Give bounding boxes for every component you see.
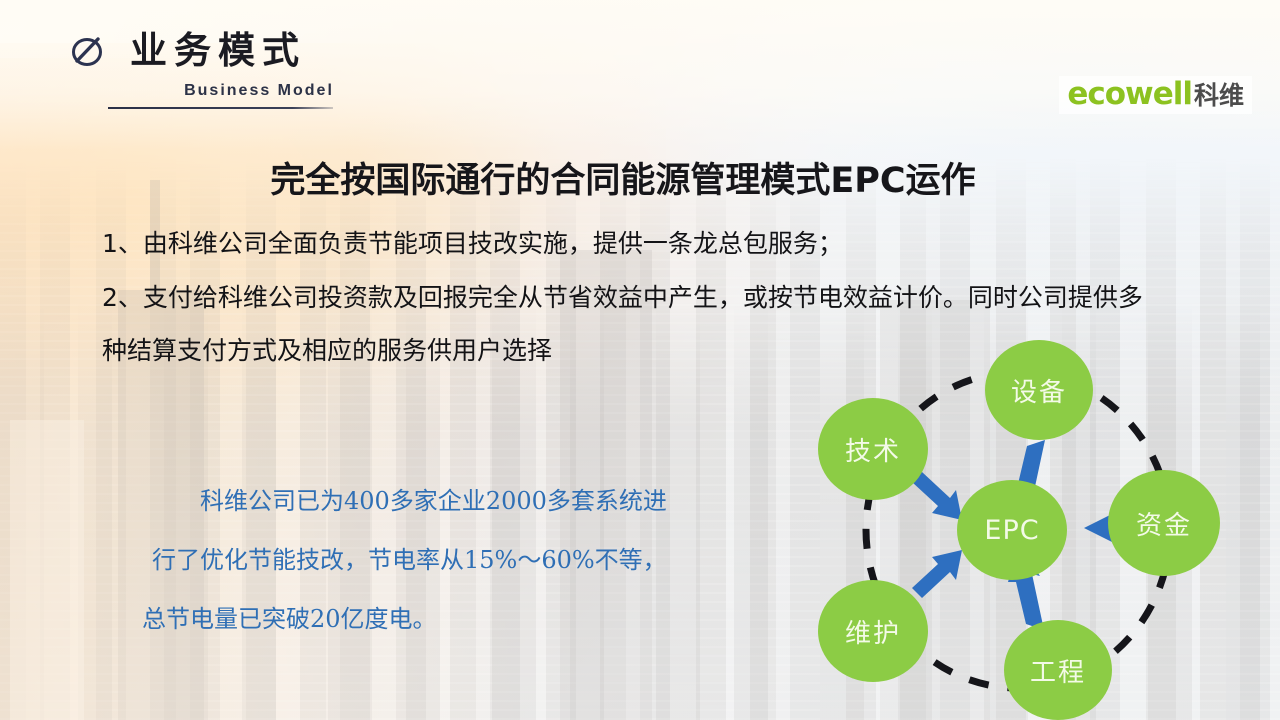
bullet-item-1: 1、由科维公司全面负责节能项目技改实施，提供一条龙总包服务； [102,228,1240,260]
highlight-line-3: 总节电量已突破20亿度电。 [142,590,720,649]
content-heading: 完全按国际通行的合同能源管理模式EPC运作 [0,152,1280,203]
header-divider [108,107,333,109]
diagram-node-epc: EPC [957,480,1067,580]
diagram-node-equipment-label: 设备 [1011,372,1067,409]
logo-wordmark: ecowell [1067,79,1192,110]
diagram-node-equipment: 设备 [985,340,1093,440]
highlight-paragraph: 科维公司已为400多家企业2000多套系统进 行了优化节能技改，节电率从15%～… [200,472,720,649]
highlight-line-1: 科维公司已为400多家企业2000多套系统进 [200,472,720,531]
diagram-node-technology-label: 技术 [845,431,901,468]
highlight-line-2: 行了优化节能技改，节电率从15%～60%不等， [152,531,720,590]
logo-chinese-name: 科维 [1194,84,1244,110]
diagram-node-capital: 资金 [1108,470,1220,576]
slide: 业务模式 Business Model ecowell 科维 完全按国际通行的合… [0,0,1280,720]
diagram-node-maintenance-label: 维护 [845,613,901,650]
epc-cycle-diagram: EPC 设备 资金 工程 维护 技术 [800,330,1240,720]
bullet-item-2: 2、支付给科维公司投资款及回报完全从节省效益中产生，或按节电效益计价。同时公司提… [102,282,1240,314]
diagram-node-engineering-label: 工程 [1030,652,1086,689]
no-entry-slash-icon [68,30,108,70]
diagram-node-capital-label: 资金 [1136,505,1192,542]
page-subtitle: Business Model [128,82,390,100]
ecowell-logo: ecowell 科维 [1059,76,1252,114]
diagram-node-technology: 技术 [818,398,928,500]
page-title: 业务模式 [130,32,306,69]
slide-header: 业务模式 Business Model [68,30,488,109]
diagram-node-engineering: 工程 [1004,620,1112,720]
diagram-node-maintenance: 维护 [818,580,928,682]
diagram-node-epc-label: EPC [984,515,1039,546]
